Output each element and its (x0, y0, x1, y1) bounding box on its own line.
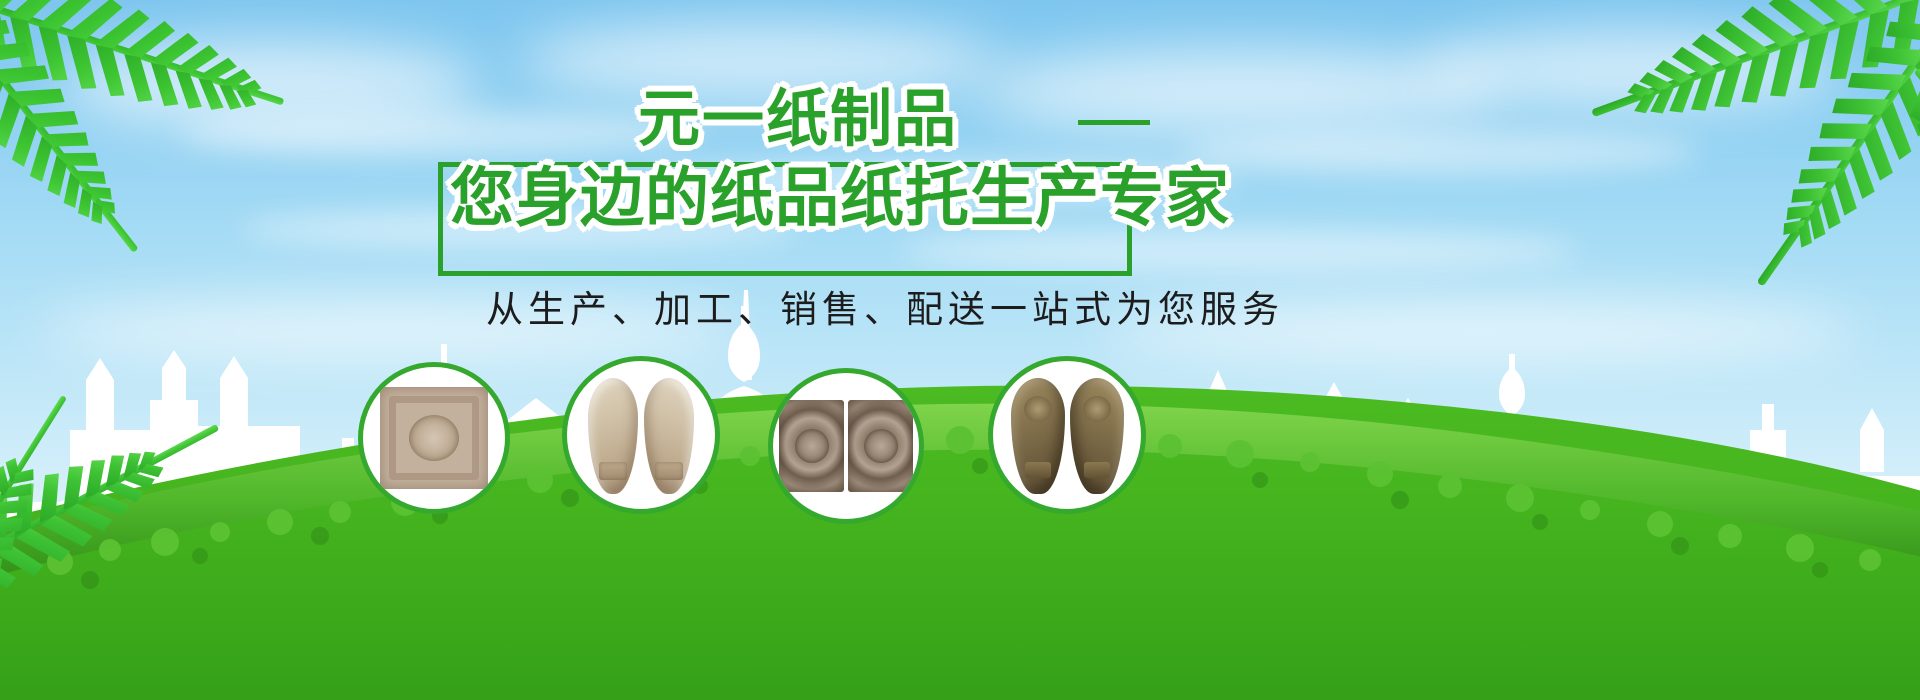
dark-shoe-left (1011, 378, 1065, 494)
shoe-left (588, 378, 638, 494)
product-circle-square-molded-pulp-tray[interactable] (358, 362, 510, 514)
pulp-shoe-tray-dark-image (1004, 376, 1130, 494)
dual-molded-pulp-tray-image (779, 400, 913, 492)
shoe-right (644, 378, 694, 494)
tray-half-right (848, 400, 913, 492)
product-circle-dual-molded-pulp-tray[interactable] (768, 368, 924, 524)
product-circle-row (0, 0, 1920, 700)
pulp-shoe-tray-light-image (581, 376, 701, 494)
product-circle-pulp-shoe-tray-light[interactable] (562, 356, 720, 514)
square-molded-pulp-tray-image (380, 387, 488, 489)
promo-banner: 元一纸制品 您身边的纸品纸托生产专家 从生产、加工、销售、配送一站式为您服务 (0, 0, 1920, 700)
tray-half-left (779, 400, 844, 492)
product-circle-pulp-shoe-tray-dark[interactable] (988, 356, 1146, 514)
dark-shoe-right (1070, 378, 1124, 494)
